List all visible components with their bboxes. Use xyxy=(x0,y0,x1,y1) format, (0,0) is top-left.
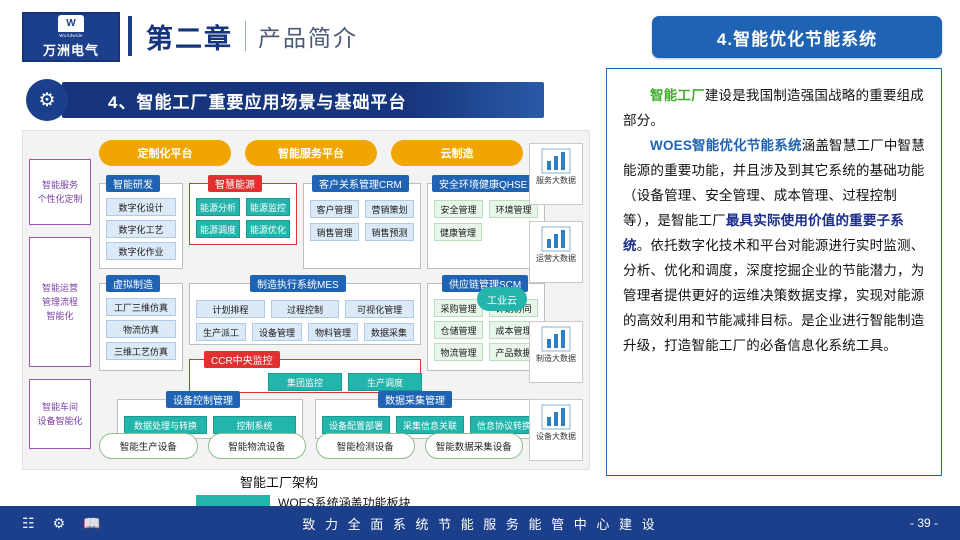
chart-icon xyxy=(541,404,571,430)
equipment-oval-row: 智能生产设备 智能物流设备 智能检测设备 智能数据采集设备 xyxy=(99,433,523,459)
cell-crm-2[interactable]: 销售管理 xyxy=(310,223,359,241)
left-group-1-line-0: 智能运营 xyxy=(42,281,78,295)
logo-chinese-text: 万洲电气 xyxy=(43,40,99,59)
left-group-0-line-0: 智能服务 xyxy=(42,178,78,192)
cell-mes-6[interactable]: 数据采集 xyxy=(364,323,414,341)
cell-ccr-1[interactable]: 生产调度 xyxy=(348,373,422,391)
cell-virtual-1[interactable]: 物流仿真 xyxy=(106,320,176,338)
cell-dataacq-0[interactable]: 设备配置部署 xyxy=(322,416,390,434)
cell-energy-3[interactable]: 能源优化 xyxy=(246,220,290,238)
cell-scm-2[interactable]: 仓储管理 xyxy=(434,321,483,339)
highlight-smart-factory: 智能工厂 xyxy=(650,88,705,103)
cell-devctrl-1[interactable]: 控制系统 xyxy=(213,416,296,434)
cell-energy-0[interactable]: 能源分析 xyxy=(196,198,240,216)
panel-virtual-title: 虚拟制造 xyxy=(106,275,160,292)
cell-rnd-0[interactable]: 数字化设计 xyxy=(106,198,176,216)
platform-pill-row: 定制化平台 智能服务平台 云制造 xyxy=(99,139,523,167)
cell-dataacq-2[interactable]: 信息协议转换 xyxy=(470,416,538,434)
panel-rnd-title: 智能研发 xyxy=(106,175,160,192)
left-group-2-line-0: 智能车间 xyxy=(42,400,78,414)
panel-virtual-mfg: 虚拟制造 工厂三维仿真 物流仿真 三维工艺仿真 xyxy=(99,283,183,371)
cell-qhse-0[interactable]: 安全管理 xyxy=(434,200,483,218)
cell-mes-1[interactable]: 过程控制 xyxy=(271,300,340,318)
cell-energy-2[interactable]: 能源调度 xyxy=(196,220,240,238)
left-group-0-line-1: 个性化定制 xyxy=(37,192,82,206)
chapter-divider xyxy=(245,21,246,51)
cell-mes-0[interactable]: 计划排程 xyxy=(196,300,265,318)
diagram-left-column: 智能服务 个性化定制 智能运营 管理流程 智能化 智能车间 设备智能化 xyxy=(29,137,91,463)
panel-qhse: 安全环境健康QHSE 安全管理 环境管理 健康管理 xyxy=(427,183,545,269)
panel-device-control-title: 设备控制管理 xyxy=(166,391,240,408)
highlight-woes: WOES智能优化节能系统 xyxy=(650,138,802,153)
cell-crm-3[interactable]: 销售预测 xyxy=(365,223,414,241)
panel-energy: 智慧能源 能源分析 能源监控 能源调度 能源优化 xyxy=(189,183,297,245)
panel-ccr-title: CCR中央监控 xyxy=(204,351,280,368)
page-number: - 39 - xyxy=(910,516,938,530)
bigdata-card-3[interactable]: 设备大数据 xyxy=(529,399,583,461)
equipment-oval-0[interactable]: 智能生产设备 xyxy=(99,433,198,459)
bigdata-card-3-label: 设备大数据 xyxy=(536,432,576,442)
bigdata-column: 服务大数据 运营大数据 制造大数据 xyxy=(529,137,583,463)
platform-pill-1[interactable]: 智能服务平台 xyxy=(245,140,377,166)
section-title: 4、智能工厂重要应用场景与基础平台 xyxy=(62,82,544,118)
panel-mes: 制造执行系统MES 计划排程 过程控制 可视化管理 生产派工 设备管理 物料管理… xyxy=(189,283,421,345)
equipment-oval-2[interactable]: 智能检测设备 xyxy=(316,433,415,459)
factory-icon: ⚙ xyxy=(26,79,68,121)
panel-crm: 客户关系管理CRM 客户管理 营销策划 销售管理 销售预测 xyxy=(303,183,421,269)
chart-icon xyxy=(541,226,571,252)
description-paragraph-2: WOES智能优化节能系统涵盖智慧工厂中智慧能源的重要功能，并且涉及到其它系统的基… xyxy=(623,133,925,358)
left-group-1: 智能运营 管理流程 智能化 xyxy=(29,237,91,367)
logo-english-text: Worldwide xyxy=(59,33,83,38)
chapter-subtitle: 产品简介 xyxy=(258,19,358,53)
platform-pill-2[interactable]: 云制造 xyxy=(391,140,523,166)
panel-ccr: CCR中央监控 集团监控 生产调度 xyxy=(189,359,421,393)
cell-rnd-1[interactable]: 数字化工艺 xyxy=(106,220,176,238)
cell-virtual-2[interactable]: 三维工艺仿真 xyxy=(106,342,176,360)
left-group-2-line-1: 设备智能化 xyxy=(37,414,82,428)
diagram-caption: 智能工厂架构 xyxy=(240,472,318,491)
bigdata-card-2-label: 制造大数据 xyxy=(536,354,576,364)
left-group-2: 智能车间 设备智能化 xyxy=(29,379,91,449)
cell-energy-1[interactable]: 能源监控 xyxy=(246,198,290,216)
company-logo: W Worldwide 万洲电气 xyxy=(22,12,120,62)
panel-rnd: 智能研发 数字化设计 数字化工艺 数字化作业 xyxy=(99,183,183,269)
logo-emblem-icon: W xyxy=(58,15,84,32)
cell-mes-3[interactable]: 生产派工 xyxy=(196,323,246,341)
chapter-number: 第二章 xyxy=(146,17,233,56)
cell-rnd-2[interactable]: 数字化作业 xyxy=(106,242,176,260)
bigdata-card-1-label: 运营大数据 xyxy=(536,254,576,264)
left-group-1-line-1: 管理流程 xyxy=(42,295,78,309)
panel-qhse-title: 安全环境健康QHSE xyxy=(432,175,534,192)
p2-part2: 。依托数字化技术和平台对能源进行实时监测、分析、优化和调度，深度挖掘企业的节能潜… xyxy=(623,238,924,353)
bigdata-card-0-label: 服务大数据 xyxy=(536,176,576,186)
cell-dataacq-1[interactable]: 采集信息关联 xyxy=(396,416,464,434)
panel-energy-title: 智慧能源 xyxy=(208,175,262,192)
equipment-oval-1[interactable]: 智能物流设备 xyxy=(208,433,307,459)
cell-qhse-2[interactable]: 健康管理 xyxy=(434,223,482,241)
chapter-accent-bar xyxy=(128,16,132,56)
cell-crm-1[interactable]: 营销策划 xyxy=(365,200,414,218)
cell-scm-4[interactable]: 物流管理 xyxy=(434,343,483,361)
topic-tab: 4.智能优化节能系统 xyxy=(652,16,942,58)
bigdata-card-1[interactable]: 运营大数据 xyxy=(529,221,583,283)
cell-mes-5[interactable]: 物料管理 xyxy=(308,323,358,341)
cell-devctrl-0[interactable]: 数据处理与转换 xyxy=(124,416,207,434)
panel-crm-title: 客户关系管理CRM xyxy=(312,175,409,192)
footer-slogan: 致 力 全 面 系 统 节 能 服 务 能 管 中 心 建 设 xyxy=(0,514,960,533)
cell-ccr-0[interactable]: 集团监控 xyxy=(268,373,342,391)
equipment-oval-3[interactable]: 智能数据采集设备 xyxy=(425,433,524,459)
cell-virtual-0[interactable]: 工厂三维仿真 xyxy=(106,298,176,316)
platform-pill-0[interactable]: 定制化平台 xyxy=(99,140,231,166)
footer-bar: ☷ ⚙ 📖 致 力 全 面 系 统 节 能 服 务 能 管 中 心 建 设 - … xyxy=(0,506,960,540)
cell-mes-2[interactable]: 可视化管理 xyxy=(345,300,414,318)
left-group-1-line-2: 智能化 xyxy=(46,309,73,323)
smart-factory-architecture-diagram: 智能服务 个性化定制 智能运营 管理流程 智能化 智能车间 设备智能化 定制化平… xyxy=(22,130,590,470)
chart-icon xyxy=(541,326,571,352)
bigdata-card-2[interactable]: 制造大数据 xyxy=(529,321,583,383)
panel-data-acq-title: 数据采集管理 xyxy=(378,391,452,408)
description-paragraph-1: 智能工厂建设是我国制造强国战略的重要组成部分。 xyxy=(623,83,925,133)
chapter-heading: 第二章 产品简介 xyxy=(128,10,358,62)
cell-crm-0[interactable]: 客户管理 xyxy=(310,200,359,218)
panel-mes-title: 制造执行系统MES xyxy=(250,275,346,292)
cell-scm-0[interactable]: 采购管理 xyxy=(434,299,483,317)
cell-mes-4[interactable]: 设备管理 xyxy=(252,323,302,341)
industrial-cloud-badge[interactable]: 工业云 xyxy=(477,287,527,311)
bigdata-card-0[interactable]: 服务大数据 xyxy=(529,143,583,205)
left-group-0: 智能服务 个性化定制 xyxy=(29,159,91,225)
chart-icon xyxy=(541,148,571,174)
description-card: 智能工厂建设是我国制造强国战略的重要组成部分。 WOES智能优化节能系统涵盖智慧… xyxy=(606,68,942,476)
